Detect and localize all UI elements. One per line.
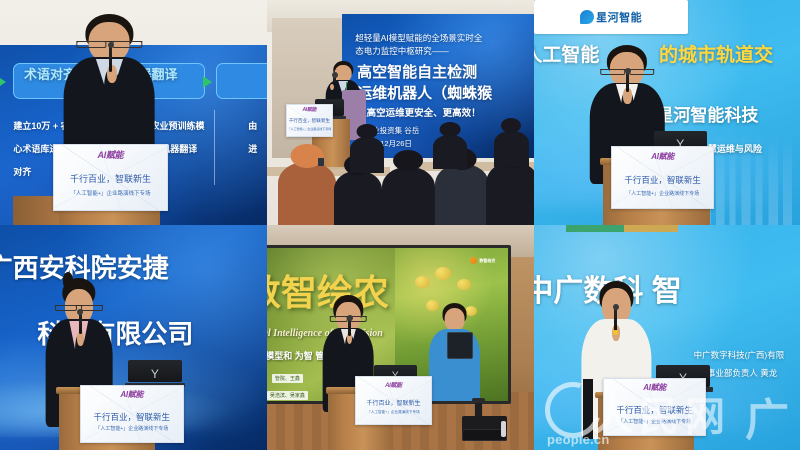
- audience-person-4: [435, 164, 488, 225]
- slide2-tagline: 让高空运维更安全、更高效！: [357, 109, 481, 120]
- podium-sign-logo-1: AI赋能: [98, 148, 124, 161]
- podium-sign-main-6: 千行百业，智联新生: [616, 404, 693, 416]
- laptop-4: Y: [128, 360, 181, 387]
- collage-panel-2[interactable]: 超轻量AI模型赋能的全场景实时全 态电力监控中枢研究—— 高空智能自主检测 运维…: [267, 0, 534, 225]
- flow-arrow-icon-3: [203, 76, 212, 88]
- podium-sign-logo-3: AI赋能: [651, 151, 674, 162]
- podium-sign-logo-5: AI赋能: [385, 380, 402, 389]
- slide5-name-tag-1: 管院、王鑫: [272, 374, 303, 383]
- audience-phone: [318, 158, 324, 166]
- audience-person-3: [382, 167, 435, 226]
- robot-canister: [501, 421, 506, 437]
- podium-sign-sub-5: 「人工智能+」企业路演线下专场: [367, 410, 419, 415]
- slide2-title-1: 高空智能自主检测: [357, 65, 477, 82]
- collage-panel-1[interactable]: 术语对齐 机器翻译 建立10万 + 农 心术语库进行 对齐 于农业预训练模 行机…: [0, 0, 267, 225]
- robot-mast: [475, 403, 482, 417]
- slide2-eyebrow-1: 超轻量AI模型赋能的全场景实时全: [355, 34, 482, 44]
- podium-sign-5[interactable]: AI赋能 千行百业，智联新生 「人工智能+」企业路演线下专场: [355, 376, 432, 425]
- collage-panel-4[interactable]: 广西安科院安捷 科技有限公司 Y AI赋能 千行百业，智联新生 「人工智能+」企…: [0, 225, 267, 450]
- slide3-subtitle: 星河智能科技: [656, 106, 758, 125]
- photo-collage: 术语对齐 机器翻译 建立10万 + 农 心术语库进行 对齐 于农业预训练模 行机…: [0, 0, 800, 450]
- audience-person-5: [486, 162, 534, 225]
- slide1-body-far-1: 由: [248, 121, 257, 131]
- robot-camera: [472, 398, 485, 403]
- slide2-eyebrow-2: 态电力监控中枢研究——: [355, 47, 449, 57]
- podium-sign-2[interactable]: AI赋能 千行百业，智联新生 「人工智能+」企业路演线下专场: [286, 104, 333, 138]
- slide1-body-far-2: 进: [248, 144, 257, 154]
- brand-logo-label-3: 星河智能: [596, 9, 642, 25]
- podium-sign-sub-2: 「人工智能+」企业路演线下专场: [287, 127, 331, 131]
- podium-sign-main-3: 千行百业，智联新生: [624, 174, 701, 186]
- demo-robot: [462, 416, 507, 441]
- podium-sign-6[interactable]: AI赋能 千行百业，智联新生 「人工智能+」企业路演线下专场: [603, 378, 706, 436]
- audience-person-6: [350, 137, 385, 173]
- collage-panel-6[interactable]: 中广数科 智 中广数字科技(广西)有限 事业部负责人 黄龙 Y AI赋能 千行百…: [534, 225, 800, 450]
- podium-sign-main-4: 千行百业，智联新生: [94, 411, 171, 423]
- audience-person-7: [433, 135, 468, 169]
- podium-sign-logo-4: AI赋能: [120, 389, 143, 400]
- podium-sign-sub-6: 「人工智能+」企业路演线下专场: [618, 418, 691, 425]
- audience-person-8: [494, 131, 529, 167]
- podium-sign-main-5: 千行百业，智联新生: [366, 398, 420, 407]
- slide2-date: 12月26日: [380, 140, 412, 148]
- slide6-credit-2: 事业部负责人 黄龙: [707, 369, 777, 379]
- slide1-body-line-3: 对齐: [13, 167, 31, 177]
- slide2-title-2: 运维机器人（蜘蛛猴: [357, 86, 492, 103]
- audience-person-1: [278, 162, 337, 225]
- collage-panel-3[interactable]: 星河智能 人工智能 的城市轨道交 星河智能科技 智慧运维与风险 Y AI赋能: [534, 0, 800, 225]
- slide3-title-yellow: 的城市轨道交: [659, 45, 773, 66]
- galaxy-logo-icon: [580, 10, 594, 24]
- audience-person-2: [334, 171, 382, 225]
- screen-top-strip-1: [566, 225, 625, 232]
- flow-box-3: [216, 63, 267, 99]
- agri-brand-label: 数智绘农: [479, 258, 495, 264]
- flow-arrow-icon-1: [0, 76, 6, 88]
- podium-sign-sub-4: 「人工智能+」企业路演线下专场: [95, 425, 168, 432]
- agri-brand-logo: 数智绘农: [470, 257, 495, 264]
- podium-sign-sub-3: 「人工智能+」企业路演线下专场: [626, 190, 699, 197]
- slide1-divider: [214, 110, 216, 186]
- podium-sign-1[interactable]: AI赋能 千行百业，智联新生 「人工智能+」企业路演线下专场: [53, 144, 167, 211]
- podium-sign-logo-6: AI赋能: [643, 382, 666, 393]
- screen-top-strip-2: [624, 225, 677, 232]
- collage-panel-5[interactable]: 数智绘农 数智绘农 Digital Intelligence of Agri-V…: [267, 225, 534, 450]
- podium-1-side: [13, 196, 58, 225]
- slide6-credit-1: 中广数字科技(广西)有限: [694, 351, 785, 361]
- mic-band: [613, 330, 618, 335]
- agri-logo-icon: [470, 257, 477, 264]
- speaker-6-trousers: [583, 379, 593, 439]
- brand-logo-3: 星河智能: [534, 0, 688, 34]
- podium-sign-4[interactable]: AI赋能 千行百业，智联新生 「人工智能+」企业路演线下专场: [80, 385, 183, 443]
- podium-sign-3[interactable]: AI赋能 千行百业，智联新生 「人工智能+」企业路演线下专场: [611, 146, 714, 209]
- podium-sign-sub-1: 「人工智能+」企业路演线下专场: [70, 189, 150, 197]
- podium-sign-logo-2: AI赋能: [302, 106, 316, 113]
- tablet-device: [447, 332, 474, 358]
- slide5-name-tag-2: 吴浩滨、吴家鑫: [267, 391, 308, 400]
- podium-sign-main-2: 千行百业，智联新生: [289, 118, 330, 124]
- slide1-body-line-1: 建立10万 + 农: [13, 121, 69, 131]
- podium-sign-main-1: 千行百业，智联新生: [70, 172, 151, 185]
